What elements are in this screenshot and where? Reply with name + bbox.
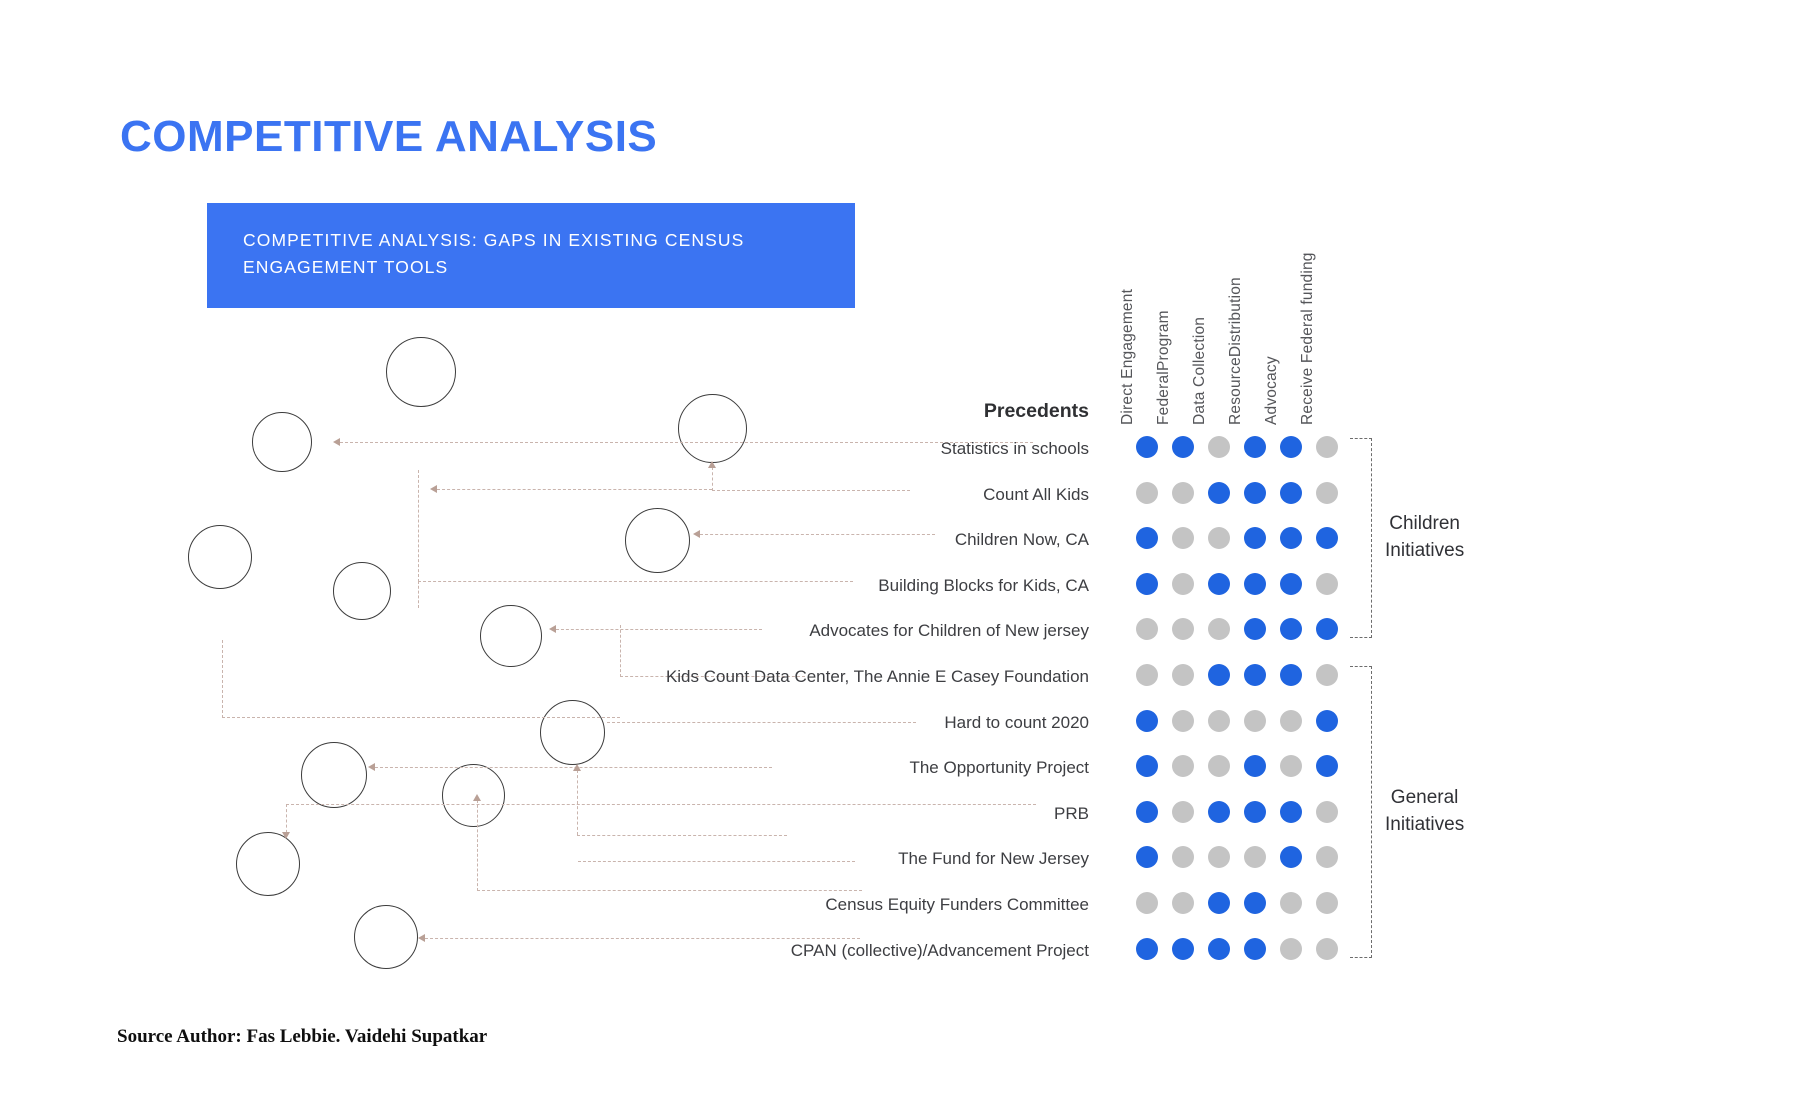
connector-arrow [708,461,716,468]
matrix-dot-empty [1172,618,1194,640]
decorative-circle [236,832,300,896]
connector-line [620,625,621,677]
matrix-dot-filled [1136,755,1158,777]
matrix-row-label: CPAN (collective)/Advancement Project [791,942,1089,959]
group-label-children-initiatives: ChildrenInitiatives [1385,511,1464,565]
decorative-circle [540,700,605,765]
matrix-dot-filled [1208,892,1230,914]
connector-line [578,861,855,862]
matrix-dot-empty [1208,710,1230,732]
matrix-dot-empty [1316,801,1338,823]
matrix-dot-empty [1208,618,1230,640]
matrix-dot-empty [1280,755,1302,777]
matrix-dot-filled [1244,482,1266,504]
matrix-dot-filled [1208,482,1230,504]
decorative-circle [625,508,690,573]
matrix-row-label: Census Equity Funders Committee [825,896,1089,913]
precedents-title: Precedents [984,400,1089,423]
matrix-row-label: Children Now, CA [955,531,1089,548]
connector-line [286,804,1036,805]
matrix-row-label: Advocates for Children of New jersey [809,622,1089,639]
connector-line [222,640,223,718]
connector-arrow [368,763,375,771]
group-label-line-1: Children [1385,511,1464,538]
matrix-dot-filled [1136,801,1158,823]
matrix-dot-empty [1244,710,1266,732]
matrix-dot-filled [1280,801,1302,823]
matrix-dot-empty [1208,846,1230,868]
matrix-dot-empty [1172,846,1194,868]
matrix-dot-empty [1136,892,1158,914]
matrix-dot-empty [1208,755,1230,777]
decorative-circle [188,525,252,589]
matrix-dot-empty [1172,755,1194,777]
matrix-dot-filled [1244,436,1266,458]
connector-line [418,581,419,608]
matrix-dot-empty [1316,482,1338,504]
matrix-dot-empty [1172,573,1194,595]
matrix-dot-empty [1316,664,1338,686]
matrix-dot-empty [1136,482,1158,504]
matrix-dot-filled [1136,436,1158,458]
matrix-dot-empty [1316,846,1338,868]
matrix-dot-empty [1172,527,1194,549]
matrix-dot-filled [1244,664,1266,686]
matrix-dot-filled [1244,573,1266,595]
connector-line [700,534,935,535]
matrix-dot-empty [1280,710,1302,732]
connector-line [712,467,713,491]
matrix-dot-filled [1244,801,1266,823]
connector-arrow [333,438,340,446]
matrix-dot-filled [1136,846,1158,868]
matrix-dot-filled [1172,938,1194,960]
group-label-general-initiatives: GeneralInitiatives [1385,785,1464,839]
matrix-dot-filled [1280,482,1302,504]
matrix-dot-filled [1244,618,1266,640]
decorative-circle [354,905,418,969]
matrix-dot-filled [1136,938,1158,960]
matrix-row-label: Count All Kids [983,486,1089,503]
matrix-dot-empty [1172,482,1194,504]
matrix-dot-filled [1208,801,1230,823]
matrix-row-label: Statistics in schools [941,440,1089,457]
matrix-dot-empty [1208,436,1230,458]
matrix-row-label: PRB [1054,805,1089,822]
matrix-dot-empty [1172,801,1194,823]
matrix-dot-filled [1316,527,1338,549]
connector-line [607,722,916,723]
connector-arrow [282,832,290,839]
matrix-dot-filled [1208,938,1230,960]
matrix-row-label: The Fund for New Jersey [898,850,1089,867]
matrix-dot-filled [1280,664,1302,686]
matrix-dot-empty [1208,527,1230,549]
matrix-row-label: Hard to count 2020 [944,714,1089,731]
banner: COMPETITIVE ANALYSIS: GAPS IN EXISTING C… [207,203,855,308]
connector-line [577,770,578,835]
group-label-line-2: Initiatives [1385,812,1464,839]
decorative-circle [480,605,542,667]
banner-title: COMPETITIVE ANALYSIS: GAPS IN EXISTING C… [243,227,818,281]
connector-line [477,890,862,891]
connector-arrow [473,794,481,801]
matrix-dot-filled [1244,892,1266,914]
page-title: COMPETITIVE ANALYSIS [120,112,657,162]
matrix-dot-empty [1316,938,1338,960]
connector-line [425,938,860,939]
matrix-dot-filled [1280,527,1302,549]
connector-line [418,470,419,582]
matrix-dot-empty [1244,846,1266,868]
matrix-dot-empty [1316,892,1338,914]
connector-line [577,835,787,836]
footer-source: Source Author: Fas Lebbie. Vaidehi Supat… [117,1026,487,1048]
matrix-dot-filled [1208,664,1230,686]
matrix-dot-filled [1316,755,1338,777]
matrix-dot-filled [1316,618,1338,640]
matrix-dot-filled [1208,573,1230,595]
group-label-line-1: General [1385,785,1464,812]
matrix-dot-filled [1136,527,1158,549]
connector-arrow [430,485,437,493]
matrix-dot-filled [1244,755,1266,777]
decorative-circle [301,742,367,808]
connector-line [556,629,762,630]
decorative-circle [678,394,747,463]
matrix-dot-empty [1316,436,1338,458]
matrix-dot-filled [1172,436,1194,458]
matrix-dot-filled [1244,938,1266,960]
matrix-dot-filled [1280,618,1302,640]
matrix-row-label: The Opportunity Project [909,759,1089,776]
matrix-dot-filled [1136,573,1158,595]
matrix-dot-empty [1172,664,1194,686]
connector-arrow [573,764,581,771]
group-label-line-2: Initiatives [1385,538,1464,565]
matrix-dot-empty [1316,573,1338,595]
connector-line [437,489,712,490]
connector-line [418,581,853,582]
matrix-dot-filled [1280,436,1302,458]
matrix-dot-filled [1280,846,1302,868]
group-bracket-general-initiatives [1350,666,1372,958]
connector-arrow [418,934,425,942]
group-bracket-children-initiatives [1350,438,1372,638]
matrix-dot-empty [1280,892,1302,914]
decorative-circle [333,562,391,620]
connector-arrow [693,530,700,538]
matrix-dot-empty [1280,938,1302,960]
matrix-row-label: Building Blocks for Kids, CA [878,577,1089,594]
connector-line [712,490,910,491]
matrix-dot-empty [1172,892,1194,914]
matrix-row-label: Kids Count Data Center, The Annie E Case… [666,668,1089,685]
matrix-dot-empty [1136,664,1158,686]
connector-arrow [549,625,556,633]
matrix-dot-filled [1280,573,1302,595]
decorative-circle [386,337,456,407]
matrix-dot-empty [1172,710,1194,732]
decorative-circle [252,412,312,472]
matrix-dot-filled [1136,710,1158,732]
matrix-dot-filled [1244,527,1266,549]
matrix-dot-filled [1316,710,1338,732]
matrix-dot-empty [1136,618,1158,640]
